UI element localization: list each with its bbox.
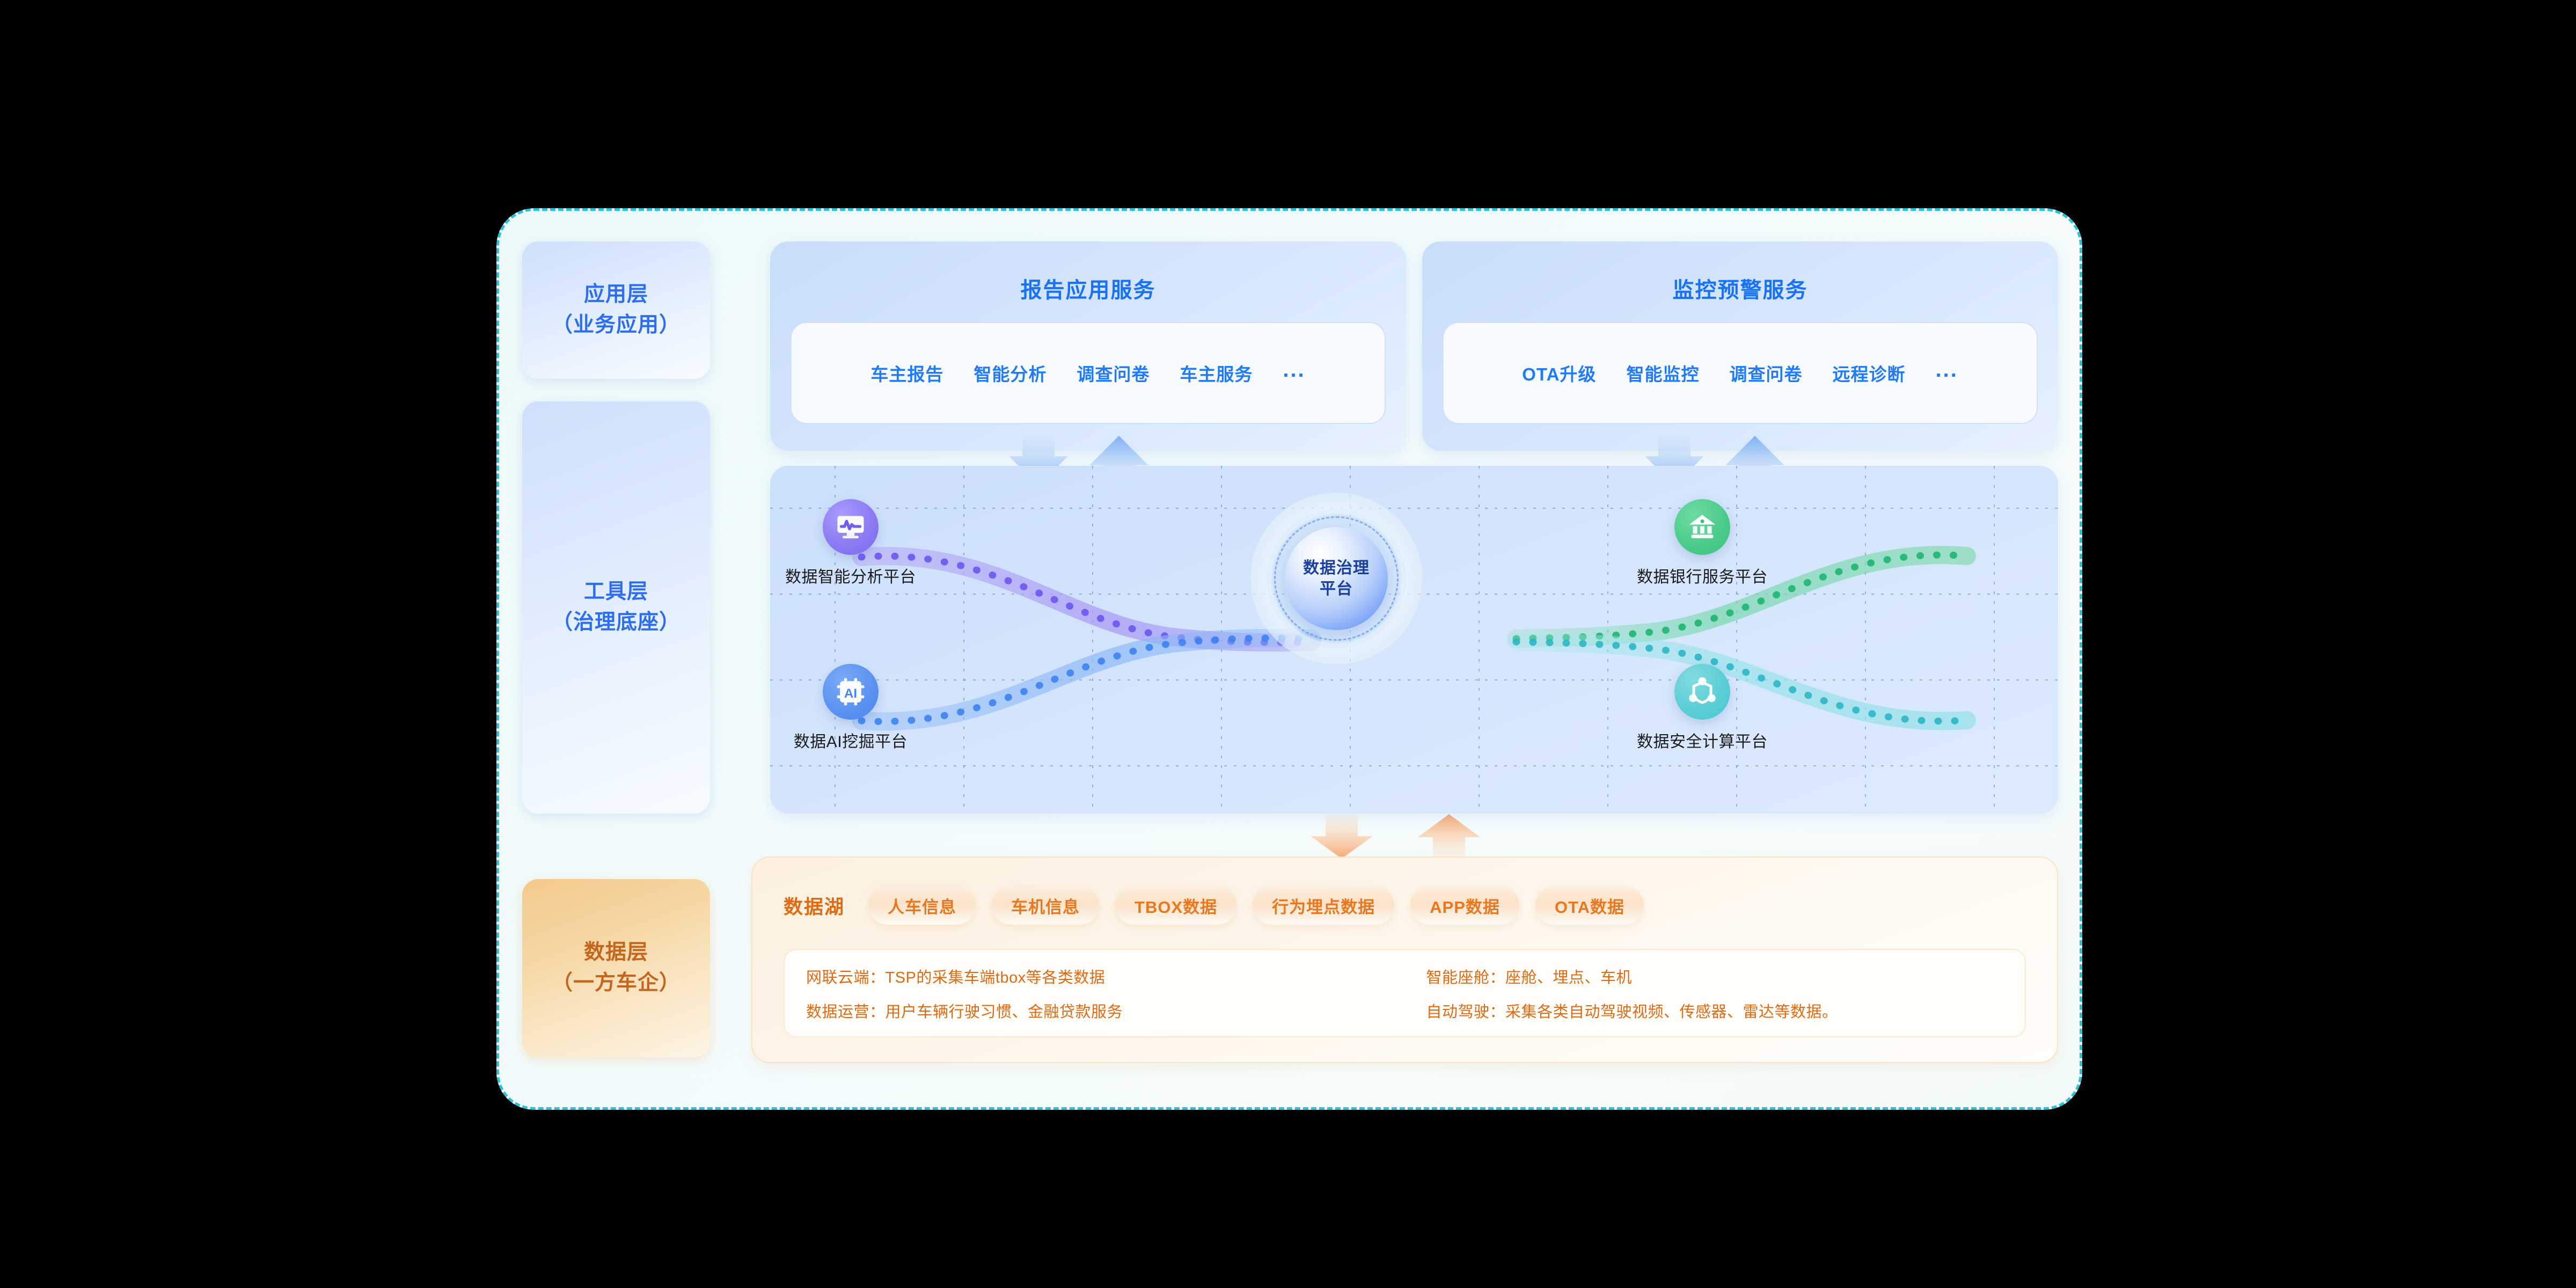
platform-node-bank[interactable]: 数据银行服务平台 bbox=[1622, 499, 1783, 587]
data-lake-tag-1[interactable]: 车机信息 bbox=[992, 886, 1099, 925]
platform-node-bank-label: 数据银行服务平台 bbox=[1622, 563, 1783, 587]
service-item-monitor-2[interactable]: 调查问卷 bbox=[1729, 360, 1802, 386]
layer-tool-title: 工具层 bbox=[552, 577, 680, 608]
layer-data-title: 数据层 bbox=[552, 938, 680, 968]
description-left-0: 网联云端：TSP的采集车端tbox等各类数据 bbox=[806, 965, 1384, 987]
shield-network-icon bbox=[1674, 664, 1730, 720]
data-lake-row: 数据湖 人车信息 车机信息 TBOX数据 行为埋点数据 APP数据 OTA数据 bbox=[784, 885, 2036, 925]
service-item-report-more[interactable]: ... bbox=[1283, 358, 1305, 382]
service-item-report-2[interactable]: 调查问卷 bbox=[1077, 360, 1150, 386]
platform-node-analytics-label: 数据智能分析平台 bbox=[770, 563, 931, 587]
data-lake-tag-2[interactable]: TBOX数据 bbox=[1115, 886, 1236, 925]
svg-text:AI: AI bbox=[844, 686, 857, 701]
service-item-monitor-0[interactable]: OTA升级 bbox=[1522, 360, 1596, 386]
hub-core: 数据治理 平台 bbox=[1285, 527, 1388, 630]
service-panel-monitor[interactable]: 监控预警服务 OTA升级 智能监控 调查问卷 远程诊断 ... bbox=[1422, 241, 2058, 451]
layer-chip-data[interactable]: 数据层 （一方车企） bbox=[522, 879, 710, 1057]
service-item-monitor-more[interactable]: ... bbox=[1935, 358, 1958, 382]
bank-building-icon bbox=[1674, 499, 1730, 555]
service-item-report-3[interactable]: 车主服务 bbox=[1180, 360, 1253, 386]
analytics-monitor-icon bbox=[823, 499, 879, 555]
layer-data-subtitle: （一方车企） bbox=[552, 968, 680, 999]
service-panel-monitor-items: OTA升级 智能监控 调查问卷 远程诊断 ... bbox=[1443, 322, 2038, 424]
description-right-0: 智能座舱：座舱、埋点、车机 bbox=[1426, 965, 2004, 987]
service-item-report-1[interactable]: 智能分析 bbox=[974, 360, 1046, 386]
platform-node-security-label: 数据安全计算平台 bbox=[1622, 728, 1783, 752]
description-right-1: 自动驾驶：采集各类自动驾驶视频、传感器、雷达等数据。 bbox=[1426, 999, 2004, 1022]
layer-chip-tool[interactable]: 工具层 （治理底座） bbox=[522, 401, 710, 814]
platform-node-ai-label: 数据AI挖掘平台 bbox=[770, 728, 931, 752]
layer-tool-subtitle: （治理底座） bbox=[552, 608, 680, 638]
service-panel-report-items: 车主报告 智能分析 调查问卷 车主服务 ... bbox=[791, 322, 1386, 424]
hub-title-line2: 平台 bbox=[1320, 579, 1353, 599]
data-lake-tag-4[interactable]: APP数据 bbox=[1410, 886, 1519, 925]
ai-chip-icon: AI bbox=[823, 664, 879, 720]
description-column-right: 智能座舱：座舱、埋点、车机 自动驾驶：采集各类自动驾驶视频、传感器、雷达等数据。 bbox=[1405, 950, 2025, 1036]
description-left-1: 数据运营：用户车辆行驶习惯、金融贷款服务 bbox=[806, 999, 1384, 1022]
layer-chip-application[interactable]: 应用层 （业务应用） bbox=[522, 241, 710, 379]
diagram-canvas: 应用层 （业务应用） 工具层 （治理底座） 数据层 （一方车企） 报告应用服务 … bbox=[0, 0, 2576, 1288]
service-item-report-0[interactable]: 车主报告 bbox=[870, 360, 943, 386]
data-lake-title: 数据湖 bbox=[784, 891, 845, 919]
platform-node-security[interactable]: 数据安全计算平台 bbox=[1622, 664, 1783, 752]
layer-application-title: 应用层 bbox=[552, 280, 680, 310]
service-panel-report-title: 报告应用服务 bbox=[770, 273, 1406, 304]
data-governance-hub[interactable]: 数据治理 平台 bbox=[1250, 493, 1422, 664]
service-item-monitor-3[interactable]: 远程诊断 bbox=[1832, 360, 1905, 386]
description-column-left: 网联云端：TSP的采集车端tbox等各类数据 数据运营：用户车辆行驶习惯、金融贷… bbox=[785, 950, 1405, 1036]
data-lake-tag-3[interactable]: 行为埋点数据 bbox=[1253, 886, 1394, 925]
hub-title-line1: 数据治理 bbox=[1303, 558, 1370, 579]
data-lake-tag-5[interactable]: OTA数据 bbox=[1535, 886, 1644, 925]
data-layer-panel: 数据湖 人车信息 车机信息 TBOX数据 行为埋点数据 APP数据 OTA数据 … bbox=[751, 857, 2058, 1063]
platform-node-analytics[interactable]: 数据智能分析平台 bbox=[770, 499, 931, 587]
service-panel-monitor-title: 监控预警服务 bbox=[1422, 273, 2058, 304]
service-panel-report[interactable]: 报告应用服务 车主报告 智能分析 调查问卷 车主服务 ... bbox=[770, 241, 1406, 451]
data-lake-tag-0[interactable]: 人车信息 bbox=[868, 886, 976, 925]
service-item-monitor-1[interactable]: 智能监控 bbox=[1626, 360, 1699, 386]
platform-node-ai[interactable]: AI 数据AI挖掘平台 bbox=[770, 664, 931, 752]
layer-application-subtitle: （业务应用） bbox=[552, 310, 680, 341]
data-layer-description-box: 网联云端：TSP的采集车端tbox等各类数据 数据运营：用户车辆行驶习惯、金融贷… bbox=[784, 949, 2026, 1037]
